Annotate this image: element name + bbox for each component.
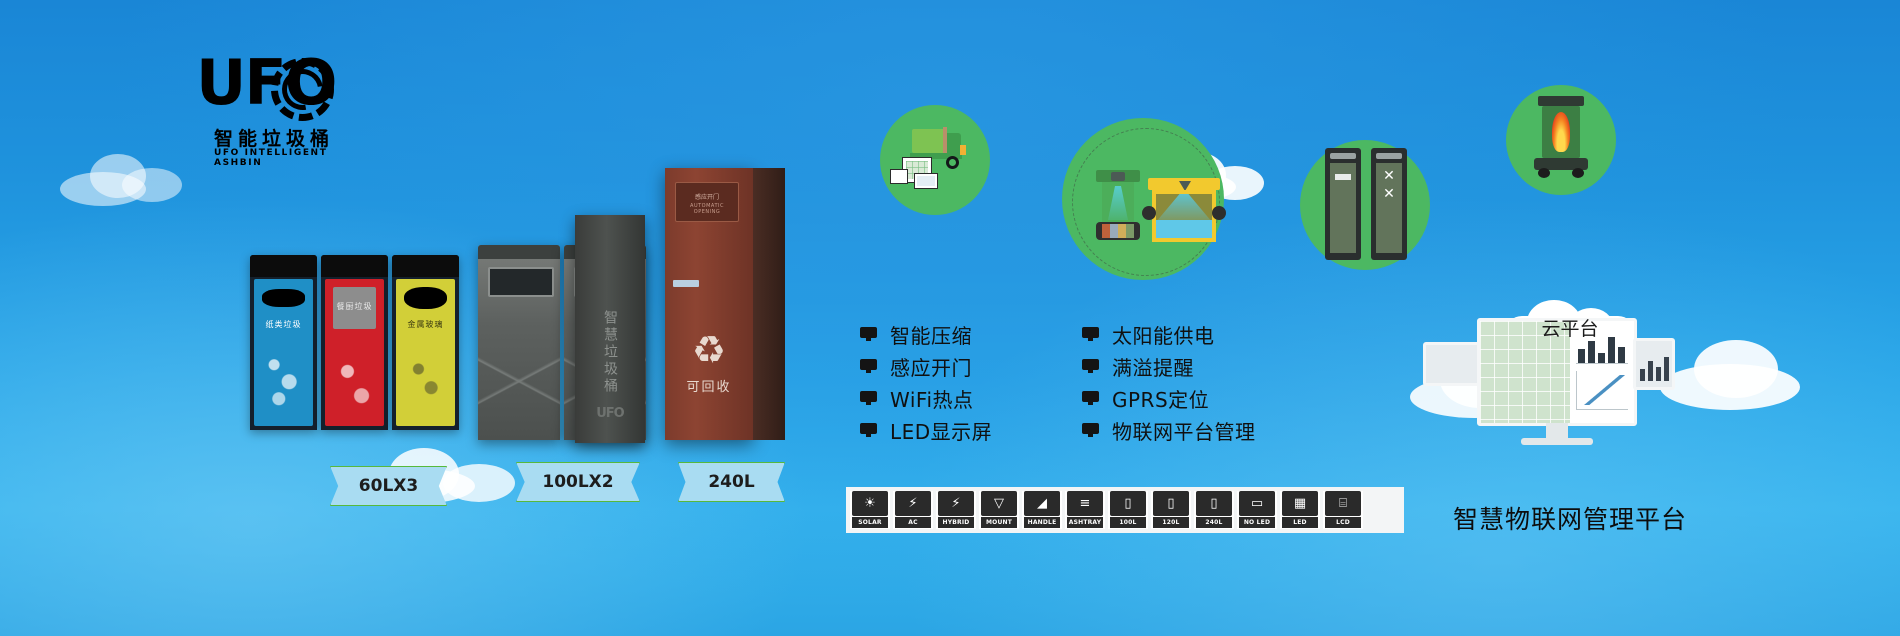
spec-icon-mount[interactable]: ▽MOUNT [979,491,1019,529]
spec-icon-label: HANDLE [1024,517,1060,528]
spec-icon-label: HYBRID [938,517,974,528]
banner-canvas: UFO 智能垃圾桶 UFO INTELLIGENT ASHBIN 纸类垃圾 餐厨… [0,0,1900,636]
bin-face: 金属玻璃 [396,279,455,426]
bin-cap [392,255,459,277]
handle-icon: ◢ [1024,491,1060,516]
dashboard-screens-icon [890,157,942,191]
brown-recycling-bin: 感应开门 AUTOMATIC OPENING ♻ 可回收 [665,168,785,440]
feature-item: WiFi热点 [860,382,992,414]
capacity-tag-240l: 240L [678,462,785,502]
brown-bin-top-panel: 感应开门 AUTOMATIC OPENING [675,182,739,222]
feature-label: 太阳能供电 [1112,320,1215,349]
bin-hatch-graphic [478,320,560,440]
compaction-bin-icon [1092,170,1144,244]
spec-icon-label: SOLAR [852,517,888,528]
capacity-tag-label: 100LX2 [542,472,613,492]
spec-icon-240l[interactable]: ▯240L [1194,491,1234,529]
feature-label: 满溢提醒 [1112,352,1194,381]
led-icon: ▦ [1282,491,1318,516]
dark-smart-bin: 智慧垃圾桶 UFO [575,215,645,443]
spec-icon-label: LED [1282,517,1318,528]
feature-item: LED显示屏 [860,414,992,446]
bin-compartment-paper: 纸类垃圾 [250,255,317,430]
no-led-icon: ▭ [1239,491,1275,516]
bin-compartment-metal-glass: 金属玻璃 [392,255,459,430]
tablet-left [1423,342,1481,386]
bin-half-left [478,245,560,440]
plug-icon: ⚡ [895,491,931,516]
bin-face: 纸类垃圾 [254,279,313,426]
recycle-symbol-icon: ♻ [689,331,729,369]
platform-illustration [1415,280,1705,500]
spec-icon-label: 100L [1110,517,1146,528]
brown-bin-led-strip [673,280,699,287]
sun-icon: ☀ [852,491,888,516]
tablet-map-screen [1426,345,1478,383]
bin-compartment-label: 纸类垃圾 [254,319,313,330]
brand-logo: UFO 智能垃圾桶 UFO INTELLIGENT ASHBIN [196,52,336,162]
monitor-icon [860,327,877,341]
scene-circle-truck [880,105,990,215]
spec-icon-label: ASHTRAY [1067,517,1103,528]
ashtray-icon: ≡ [1067,491,1103,516]
panel-line-1: 感应开门 [676,192,738,201]
capacity-tag-60lx3: 60LX3 [330,466,447,506]
feature-item: 太阳能供电 [1082,318,1256,350]
bin-cap [321,255,388,277]
spec-icon-ashtray[interactable]: ≡ASHTRAY [1065,491,1105,529]
monitor-icon [1082,359,1099,373]
spec-icon-solar[interactable]: ☀SOLAR [850,491,890,529]
spec-icon-label: 120L [1153,517,1189,528]
feature-label: 智能压缩 [890,320,972,349]
spec-icon-strip: ☀SOLAR⚡AC⚡HYBRID▽MOUNT◢HANDLE≡ASHTRAY▯10… [846,487,1404,533]
spec-icon-handle[interactable]: ◢HANDLE [1022,491,1062,529]
bin-cap [478,245,560,259]
monitor-icon [860,359,877,373]
capacity-tag-label: 240L [708,472,754,492]
spec-icon-label: AC [895,517,931,528]
feature-label: 感应开门 [890,352,972,381]
feature-label: WiFi热点 [890,384,974,413]
cloud-platform-label: 云平台 [1505,314,1635,341]
spec-icon-100l[interactable]: ▯100L [1108,491,1148,529]
platform-title: 智慧物联网管理平台 [1425,500,1715,536]
spec-icon-lcd[interactable]: ⌸LCD [1323,491,1363,529]
bin-face: 餐厨垃圾 [325,279,384,426]
smart-bin-pair-icon: ✕ ✕ [1325,148,1407,264]
brown-bin-side [753,168,785,440]
dark-bin-brand-mark: UFO [596,406,624,421]
bin-slot-icon [404,287,446,309]
feature-label: GPRS定位 [1112,384,1209,413]
feature-item: 物联网平台管理 [1082,414,1256,446]
spec-icon-label: MOUNT [981,517,1017,528]
spec-icon-label: 240L [1196,517,1232,528]
fire-alarm-bin-icon [1532,96,1590,178]
bin-compartment-label: 餐厨垃圾 [325,301,384,312]
spec-icon-hybrid[interactable]: ⚡HYBRID [936,491,976,529]
tablet-right [1633,338,1675,390]
spec-icon-led[interactable]: ▦LED [1280,491,1320,529]
spec-icon-ac[interactable]: ⚡AC [893,491,933,529]
spec-icon-120l[interactable]: ▯120L [1151,491,1191,529]
bin-window-icon [488,267,554,297]
feature-label: 物联网平台管理 [1112,416,1256,445]
logo-chinese-name: 智能垃圾桶 [214,124,334,151]
feature-item: 感应开门 [860,350,992,382]
monitor-icon [1082,423,1099,437]
recycle-label: 可回收 [665,376,753,395]
bin-compartment-label: 金属玻璃 [396,319,455,330]
bin-compartment-kitchen: 餐厨垃圾 [321,255,388,430]
spec-icon-label: NO LED [1239,517,1275,528]
feature-column-left: 智能压缩感应开门WiFi热点LED显示屏 [860,318,992,446]
feature-item: 满溢提醒 [1082,350,1256,382]
three-compartment-bin: 纸类垃圾 餐厨垃圾 金属玻璃 [250,255,460,430]
bin-100l-icon: ▯ [1110,491,1146,516]
bin-cap [250,255,317,277]
feature-column-right: 太阳能供电满溢提醒GPRS定位物联网平台管理 [1082,318,1256,446]
feature-item: GPRS定位 [1082,382,1256,414]
panel-line-2: AUTOMATIC OPENING [676,203,738,215]
lcd-icon: ⌸ [1325,491,1361,516]
capacity-tag-100lx2: 100LX2 [516,462,640,502]
monitor-neck [1546,423,1568,439]
feature-item: 智能压缩 [860,318,992,350]
wall-mount-icon: ▽ [981,491,1017,516]
bin-graphic [331,339,378,420]
spec-icon-label: LCD [1325,517,1361,528]
spec-icon-no-led[interactable]: ▭NO LED [1237,491,1277,529]
compaction-tank-icon [1148,178,1220,244]
lightning-icon: ⚡ [938,491,974,516]
monitor-icon [860,391,877,405]
monitor-icon [1082,391,1099,405]
dark-bin-vertical-label: 智慧垃圾桶 [600,310,620,395]
bin-graphic [402,335,449,420]
monitor-icon [1082,327,1099,341]
bin-120l-icon: ▯ [1153,491,1189,516]
brown-bin-body: 感应开门 AUTOMATIC OPENING ♻ 可回收 [665,168,753,440]
monitor-base [1521,438,1593,445]
bin-slot-icon [262,289,304,307]
bin-graphic [260,335,307,420]
feature-label: LED显示屏 [890,416,992,445]
bin-240l-icon: ▯ [1196,491,1232,516]
logo-english-name: UFO INTELLIGENT ASHBIN [214,148,336,168]
tablet-chart-screen [1636,341,1672,387]
monitor-icon [860,423,877,437]
capacity-tag-label: 60LX3 [359,476,418,496]
